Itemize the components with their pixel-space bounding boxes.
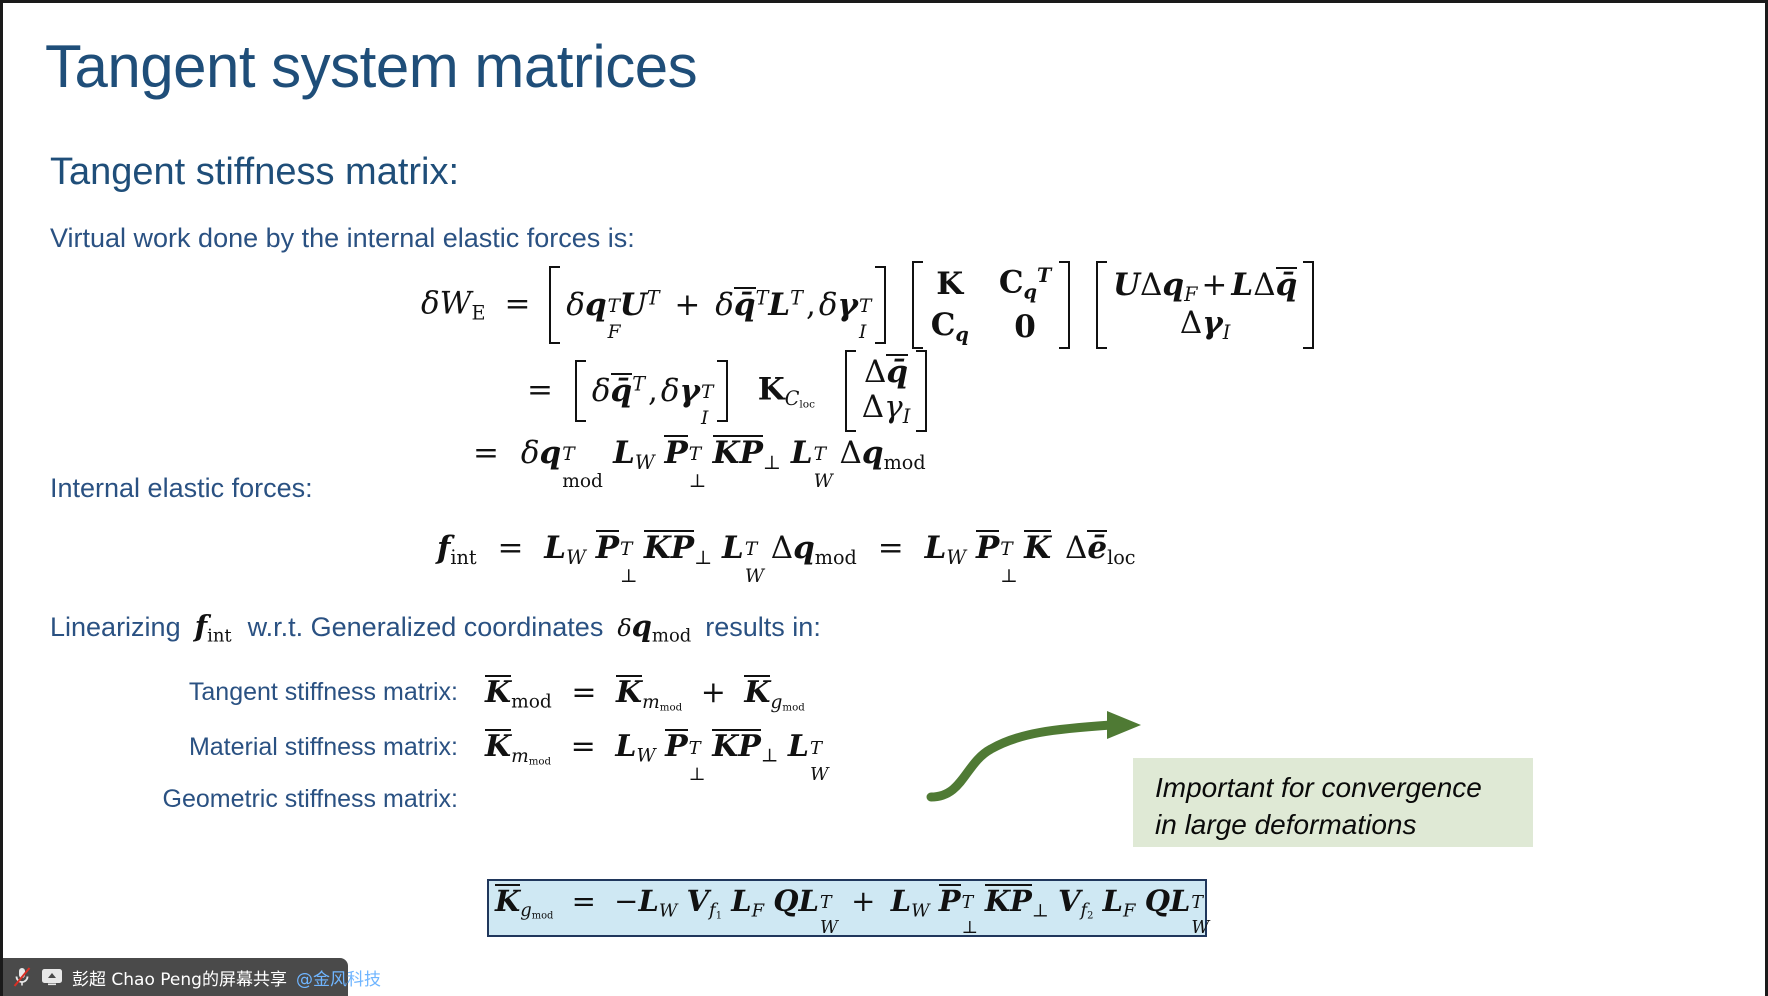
share-owner-label: 彭超 Chao Peng的屏幕共享 <box>72 965 287 990</box>
equation-material-stiffness: Kmmod = LW PT⊥ KP⊥ LTW <box>485 729 826 767</box>
page-title: Tangent system matrices <box>45 35 697 98</box>
section-heading: Tangent stiffness matrix: <box>50 151 459 194</box>
callout-box: Important for convergence in large defor… <box>1133 758 1533 847</box>
math-f-int: fint <box>181 609 248 646</box>
equation-virtual-work-line2: = δq̄T,δγTI KCloc Δq̄ ΔγI <box>527 350 927 432</box>
math-delta-q-mod: δqmod <box>603 609 705 646</box>
callout-arrow-icon <box>903 693 1163 803</box>
microphone-muted-icon[interactable] <box>12 966 32 988</box>
linearizing-part3: results in: <box>705 612 821 643</box>
linearizing-part1: Linearizing <box>50 612 181 643</box>
equation-internal-forces: fint = LW PT⊥ KP⊥ LTW Δqmod = LW PT⊥ K Δ… <box>437 530 1136 569</box>
slide-canvas: Tangent system matrices Tangent stiffnes… <box>0 0 1768 996</box>
lead-internal-forces: Internal elastic forces: <box>50 473 313 504</box>
callout-line-2: in large deformations <box>1155 807 1525 844</box>
linearizing-part2: w.r.t. Generalized coordinates <box>248 612 604 643</box>
equation-virtual-work-line1: δWE = δqTFUT + δq̄TLT,δγTI K CqT Cq 0 <box>421 261 1314 349</box>
callout-line-1: Important for convergence <box>1155 770 1525 807</box>
equation-geometric-stiffness: Kgmod = −LW Vf1 LF QLTW + LW PT⊥ KP⊥ Vf2… <box>495 884 1207 922</box>
lead-virtual-work: Virtual work done by the internal elasti… <box>50 223 635 254</box>
label-tangent-stiffness: Tangent stiffness matrix: <box>3 678 458 707</box>
equation-virtual-work-line3: = δqTmod LW PT⊥ KP⊥ LTW Δqmod <box>473 435 926 474</box>
lead-linearizing: Linearizing fint w.r.t. Generalized coor… <box>50 609 821 646</box>
callout-text: Important for convergence in large defor… <box>1155 770 1525 844</box>
label-material-stiffness: Material stiffness matrix: <box>3 733 458 762</box>
share-handle-label: @金风科技 <box>296 965 381 990</box>
equation-tangent-stiffness: Kmod = Kmmod + Kgmod <box>485 675 805 713</box>
screen-share-taskbar[interactable]: 彭超 Chao Peng的屏幕共享 @金风科技 <box>3 958 348 996</box>
screen-share-icon[interactable] <box>41 968 63 986</box>
label-geometric-stiffness: Geometric stiffness matrix: <box>3 785 458 814</box>
